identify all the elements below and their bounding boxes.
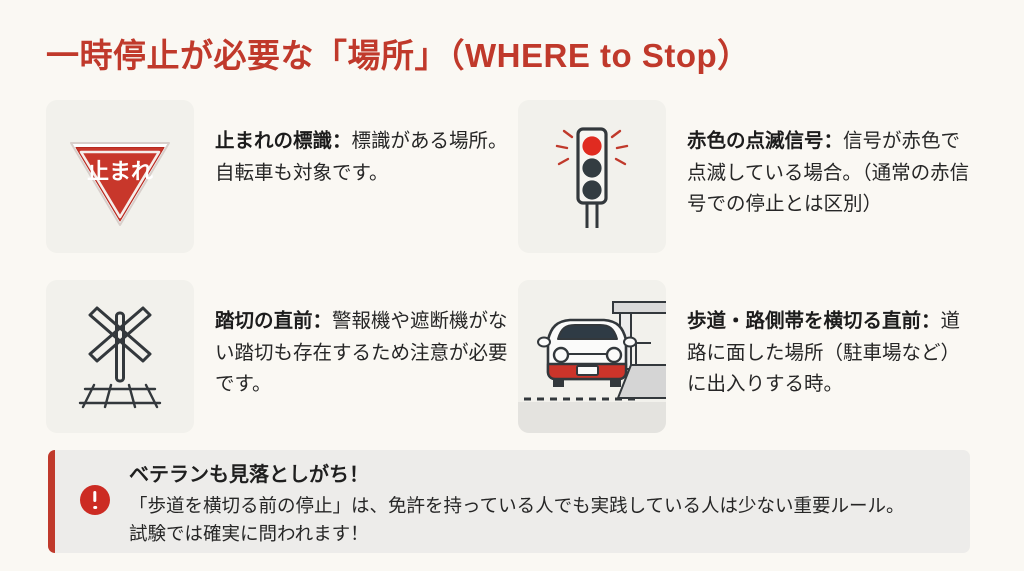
stop-sign-label: 止まれ bbox=[87, 159, 153, 184]
exclamation-circle-icon bbox=[80, 485, 110, 515]
callout-heading: ベテランも見落としがち！ bbox=[129, 461, 905, 490]
list-item-lead: 止まれの標識： bbox=[215, 130, 352, 152]
slide-root: 一時停止が必要な「場所」（WHERE to Stop） 止まれ 止まれの標識：標… bbox=[0, 0, 1024, 571]
stop-locations-grid: 止まれ 止まれの標識：標識がある場所。自転車も対象です。 bbox=[46, 100, 976, 452]
callout-line-2: 試験では確実に問われます！ bbox=[129, 520, 905, 548]
list-item: 歩道・路側帯を横切る直前：道路に面した場所（駐車場など）に出入りする時。 bbox=[518, 280, 976, 452]
list-item-text: 歩道・路側帯を横切る直前：道路に面した場所（駐車場など）に出入りする時。 bbox=[687, 306, 976, 401]
warning-callout: ベテランも見落としがち！ 「歩道を横切る前の停止」は、免許を持っている人でも実践… bbox=[48, 450, 970, 553]
list-item-text: 踏切の直前：警報機や遮断機がない踏切も存在するため注意が必要です。 bbox=[215, 306, 515, 401]
stop-sign-icon: 止まれ bbox=[56, 113, 184, 241]
list-item: 赤色の点滅信号：信号が赤色で点滅している場合。（通常の赤信号での停止とは区別） bbox=[518, 100, 976, 272]
list-item: 止まれ 止まれの標識：標識がある場所。自転車も対象です。 bbox=[46, 100, 518, 272]
list-item-text: 赤色の点滅信号：信号が赤色で点滅している場合。（通常の赤信号での停止とは区別） bbox=[687, 126, 976, 221]
callout-text: 「歩道を横切る前の停止」は、免許を持っている人でも実践している人は少ない重要ルー… bbox=[129, 492, 905, 548]
icon-tile bbox=[518, 100, 666, 253]
icon-tile bbox=[518, 280, 666, 433]
list-item-lead: 歩道・路側帯を横切る直前： bbox=[687, 310, 941, 332]
icon-tile bbox=[46, 280, 194, 433]
car-crossing-sidewalk-icon bbox=[518, 280, 666, 433]
icon-tile: 止まれ bbox=[46, 100, 194, 253]
list-item-text: 止まれの標識：標識がある場所。自転車も対象です。 bbox=[215, 126, 515, 189]
list-item-lead: 赤色の点滅信号： bbox=[687, 130, 843, 152]
list-item: 踏切の直前：警報機や遮断機がない踏切も存在するため注意が必要です。 bbox=[46, 280, 518, 452]
list-item-lead: 踏切の直前： bbox=[215, 310, 332, 332]
callout-line-1: 「歩道を横切る前の停止」は、免許を持っている人でも実践している人は少ない重要ルー… bbox=[129, 495, 905, 516]
flashing-red-traffic-light-icon bbox=[528, 113, 656, 241]
railroad-crossing-icon bbox=[56, 293, 184, 421]
callout-body: ベテランも見落としがち！ 「歩道を横切る前の停止」は、免許を持っている人でも実践… bbox=[129, 461, 905, 548]
page-title: 一時停止が必要な「場所」（WHERE to Stop） bbox=[46, 29, 751, 77]
